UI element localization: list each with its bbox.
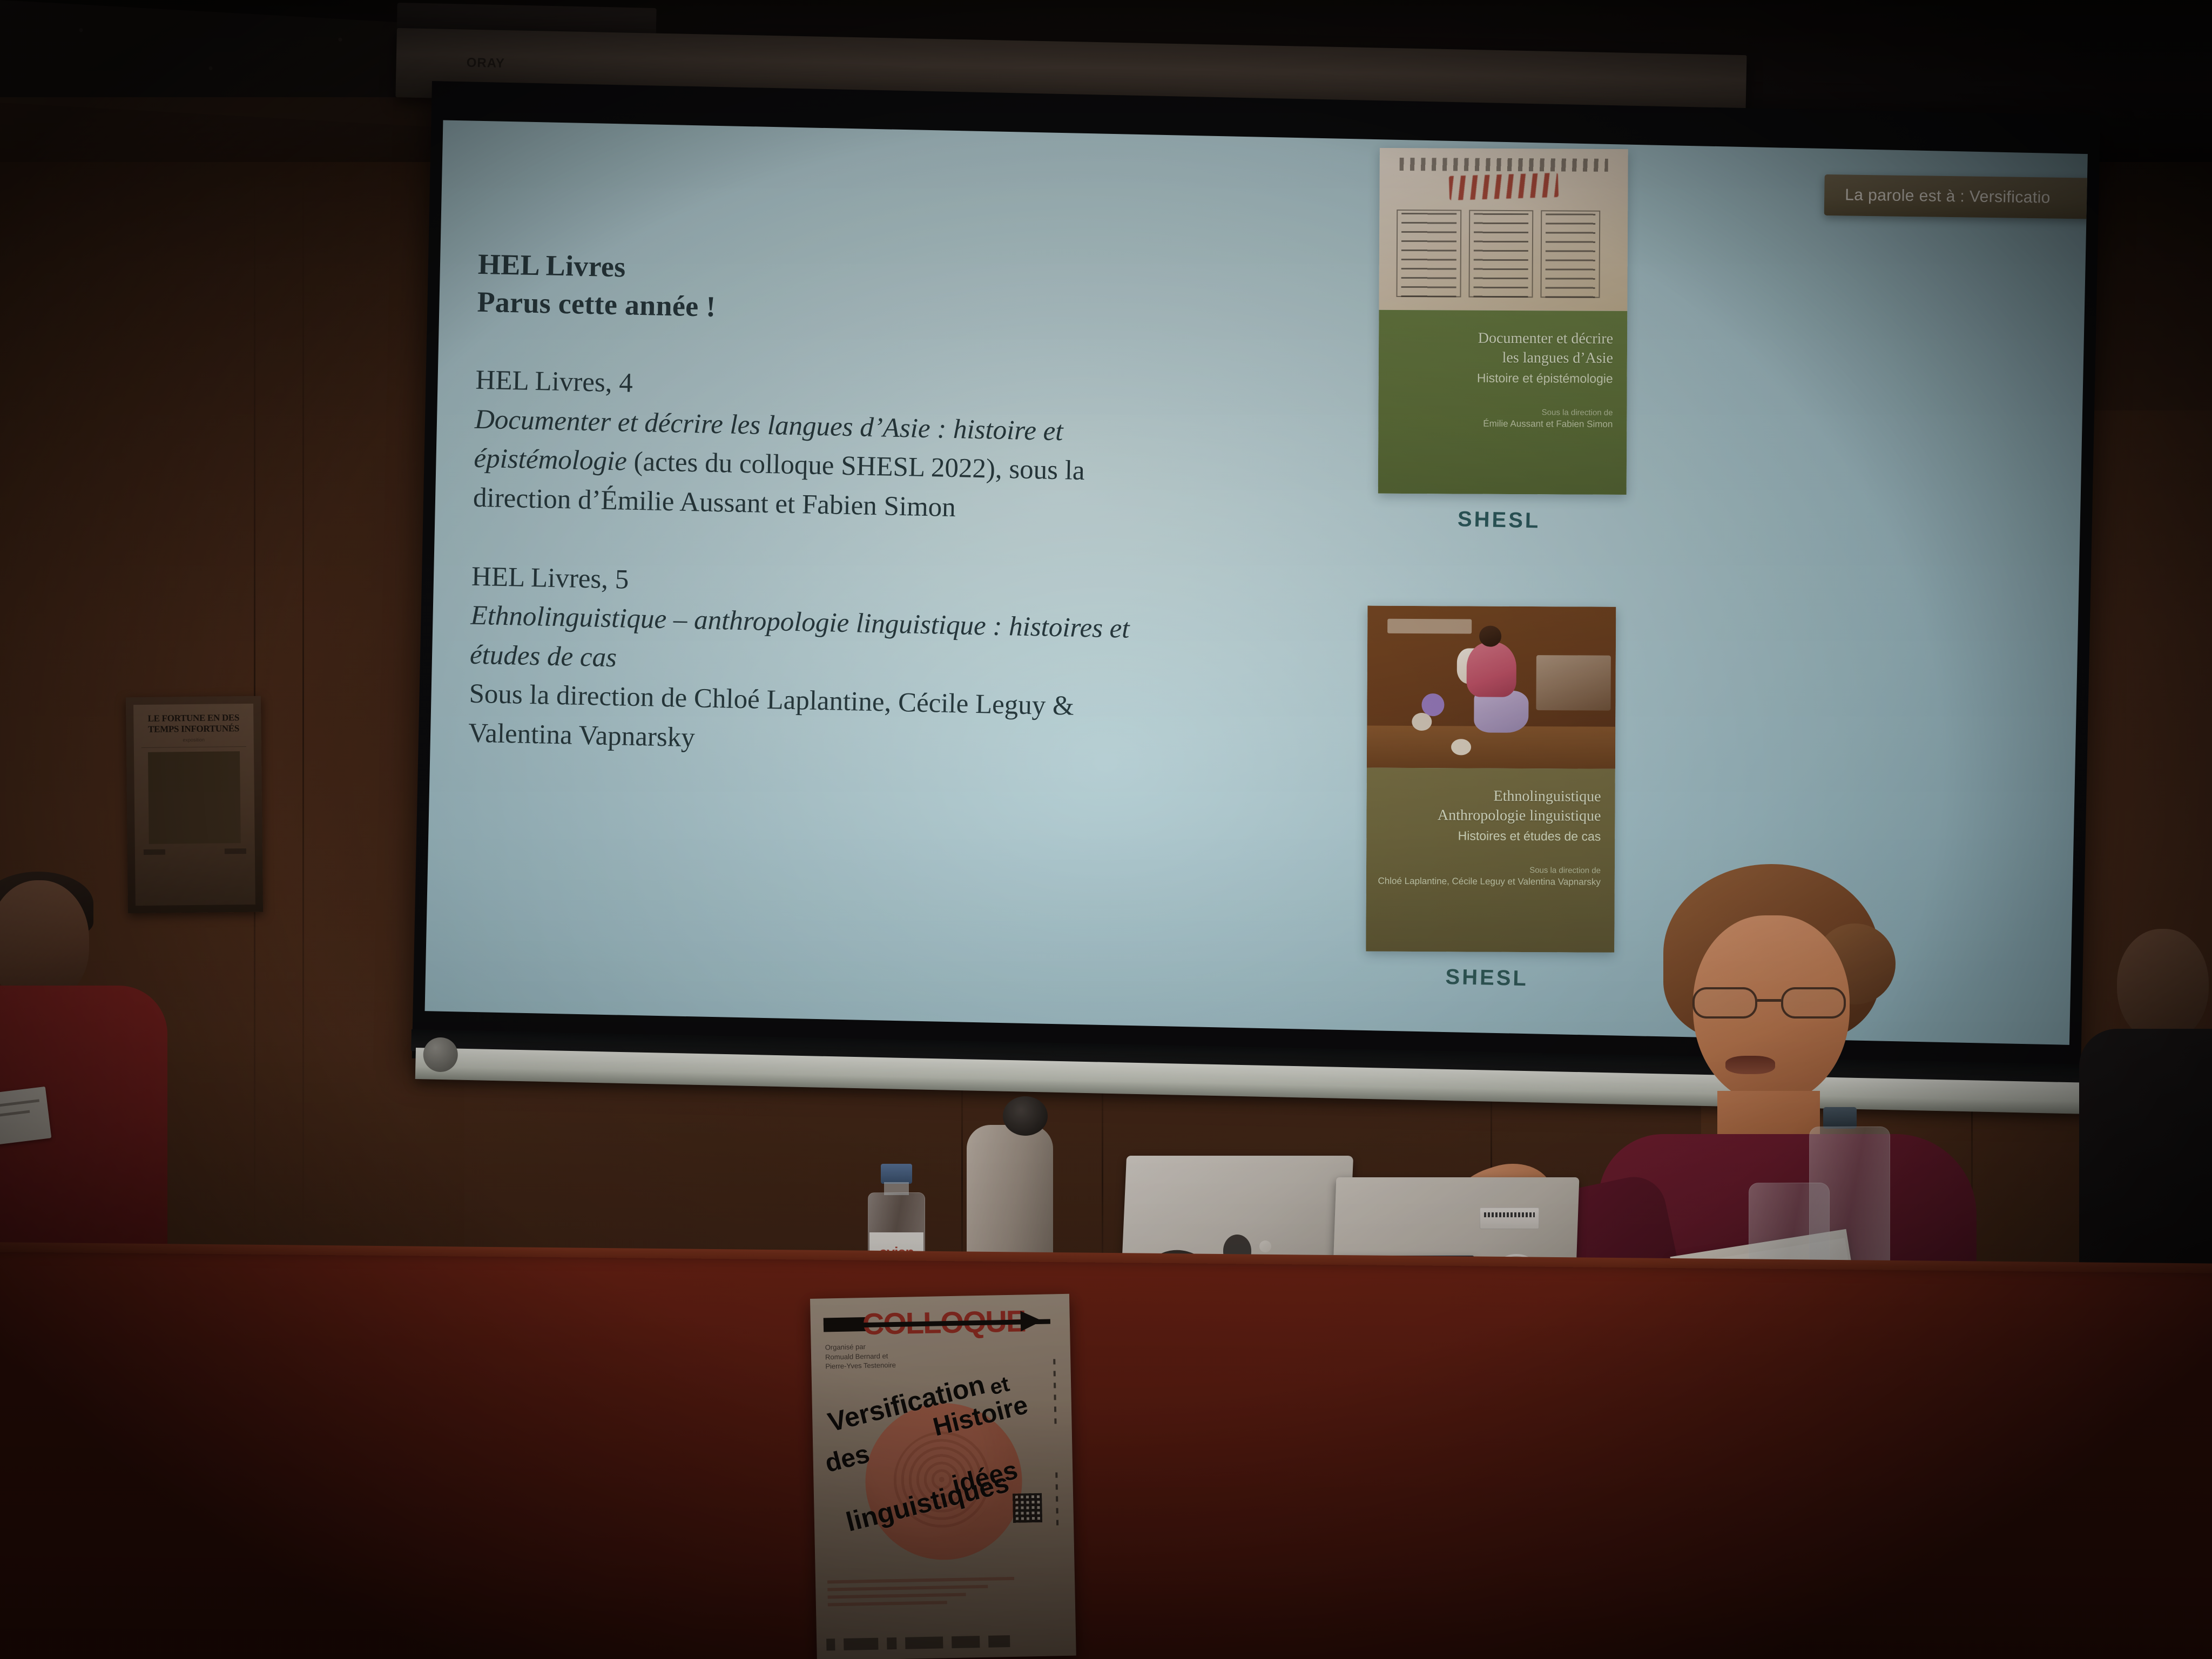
speaker-glasses bbox=[1689, 987, 1857, 1021]
manuscript-lines-1 bbox=[1401, 213, 1456, 297]
attendee-right-head bbox=[2117, 929, 2209, 1042]
poster-tick-marks-bottom bbox=[1055, 1472, 1058, 1532]
manuscript-scribble-top bbox=[1399, 158, 1608, 172]
book-cover-1-band: Documenter et décrire les langues d’Asie… bbox=[1378, 310, 1628, 495]
poster-organisers: Organisé par Romuald Bernard et Pierre-Y… bbox=[825, 1340, 961, 1371]
bottle-cap-left bbox=[881, 1164, 912, 1184]
sponsor-logo-5 bbox=[952, 1636, 980, 1648]
slide-entry-1: HEL Livres, 4 Documenter et décrire les … bbox=[473, 361, 1318, 535]
fieldwork-shelf bbox=[1387, 619, 1472, 634]
cover2-editors: Chloé Laplantine, Cécile Leguy et Valent… bbox=[1378, 875, 1600, 887]
book-cover-2-art: Ethnolinguistique Anthropologie linguist… bbox=[1366, 606, 1616, 953]
sponsor-logo-2 bbox=[844, 1638, 878, 1650]
book-cover-2-photo bbox=[1367, 606, 1616, 769]
book-cover-1-art: Documenter et décrire les langues d’Asie… bbox=[1378, 148, 1628, 495]
manuscript-red-heading bbox=[1449, 173, 1559, 200]
poster-tick-marks-top bbox=[1053, 1359, 1056, 1429]
manuscript-lines-2 bbox=[1473, 213, 1528, 298]
cover1-editors-label: Sous la direction de bbox=[1542, 408, 1613, 417]
cover2-title-line1: Ethnolinguistique bbox=[1438, 786, 1601, 807]
microphone-capsule bbox=[1003, 1096, 1048, 1136]
sponsor-logo-4 bbox=[905, 1636, 943, 1649]
cover1-subtitle: Histoire et épistémologie bbox=[1477, 370, 1613, 386]
manuscript-lines-3 bbox=[1546, 213, 1596, 298]
screen-pull-knob bbox=[423, 1037, 458, 1072]
cover2-title-line2: Anthropologie linguistique bbox=[1438, 806, 1601, 827]
sponsor-logo-1 bbox=[826, 1638, 835, 1650]
glasses-left-lens bbox=[1692, 987, 1757, 1019]
poster-title-word-4: des bbox=[822, 1439, 873, 1478]
glasses-bridge bbox=[1757, 999, 1781, 1002]
attendee-right bbox=[2068, 929, 2212, 1318]
conference-room-photo: LE FORTUNE EN DES TEMPS INFORTUNÉS expos… bbox=[0, 0, 2212, 1659]
sponsor-logo-6 bbox=[988, 1635, 1010, 1648]
table-front-panel bbox=[0, 1252, 2212, 1659]
cover2-publisher-logo: SHESL bbox=[1363, 963, 1611, 993]
poster-programme-lines bbox=[827, 1577, 1015, 1611]
laptop-asset-sticker bbox=[1480, 1208, 1539, 1229]
cover1-title-line1: Documenter et décrire bbox=[1478, 329, 1613, 349]
attendee-left-name-badge bbox=[0, 1087, 51, 1147]
wall-poster-title-line1: LE FORTUNE EN DES bbox=[139, 712, 248, 724]
slide-text-column: HEL Livres Parus cette année ! HEL Livre… bbox=[468, 245, 1320, 770]
glasses-right-lens bbox=[1781, 987, 1846, 1019]
cover1-publisher-logo: SHESL bbox=[1374, 505, 1623, 535]
book-cover-2: Ethnolinguistique Anthropologie linguist… bbox=[1363, 604, 1619, 993]
speaker-banner: La parole est à : Versificatio bbox=[1824, 174, 2088, 219]
wall-poster-subtitle: exposition bbox=[139, 737, 248, 743]
conference-microphone-unit[interactable] bbox=[967, 1096, 1053, 1274]
poster-sponsor-logos bbox=[826, 1634, 1060, 1650]
qr-code-icon[interactable] bbox=[1013, 1493, 1042, 1523]
poster-organiser-2: Pierre-Yves Testenoire bbox=[825, 1359, 960, 1371]
wall-poster-engraving bbox=[148, 751, 240, 844]
speaker-banner-text: La parole est à : Versificatio bbox=[1824, 186, 2051, 207]
conference-poster: COLLOQUE Organisé par Romuald Bernard et… bbox=[810, 1294, 1076, 1659]
speaker-mouth bbox=[1725, 1056, 1775, 1074]
wall-poster-divider bbox=[141, 746, 246, 748]
entry1-rest-line2: (actes du colloque SHESL 2022), sous la bbox=[626, 447, 1085, 486]
slide-entry-2: HEL Livres, 5 Ethnolinguistique – anthro… bbox=[468, 557, 1314, 770]
cover2-subtitle: Histoires et études de cas bbox=[1458, 828, 1601, 844]
attendee-left bbox=[0, 880, 211, 1291]
wall-seam-2 bbox=[302, 162, 304, 1242]
entry1-title-line2: épistémologie bbox=[474, 443, 627, 477]
bottle-cap-right bbox=[1823, 1107, 1857, 1129]
fieldwork-object-white bbox=[1412, 713, 1432, 731]
book-cover-2-band: Ethnolinguistique Anthropologie linguist… bbox=[1366, 768, 1615, 953]
book-cover-1-photo bbox=[1379, 148, 1628, 311]
fieldwork-person-torso bbox=[1467, 642, 1516, 697]
cover1-editors: Émilie Aussant et Fabien Simon bbox=[1483, 418, 1613, 429]
attendee-left-head bbox=[0, 880, 89, 1002]
screen-brand-logo: ORAY bbox=[466, 56, 505, 71]
fieldwork-object-bowl bbox=[1451, 739, 1471, 755]
sponsor-logo-3 bbox=[887, 1637, 896, 1649]
book-cover-1: Documenter et décrire les langues d’Asie… bbox=[1374, 146, 1631, 535]
wall-poster-title-line2: TEMPS INFORTUNÉS bbox=[139, 723, 248, 734]
cover1-title-line2: les langues d’Asie bbox=[1478, 348, 1613, 369]
fieldwork-table bbox=[1536, 655, 1610, 711]
wall-poster-logos bbox=[140, 848, 249, 855]
